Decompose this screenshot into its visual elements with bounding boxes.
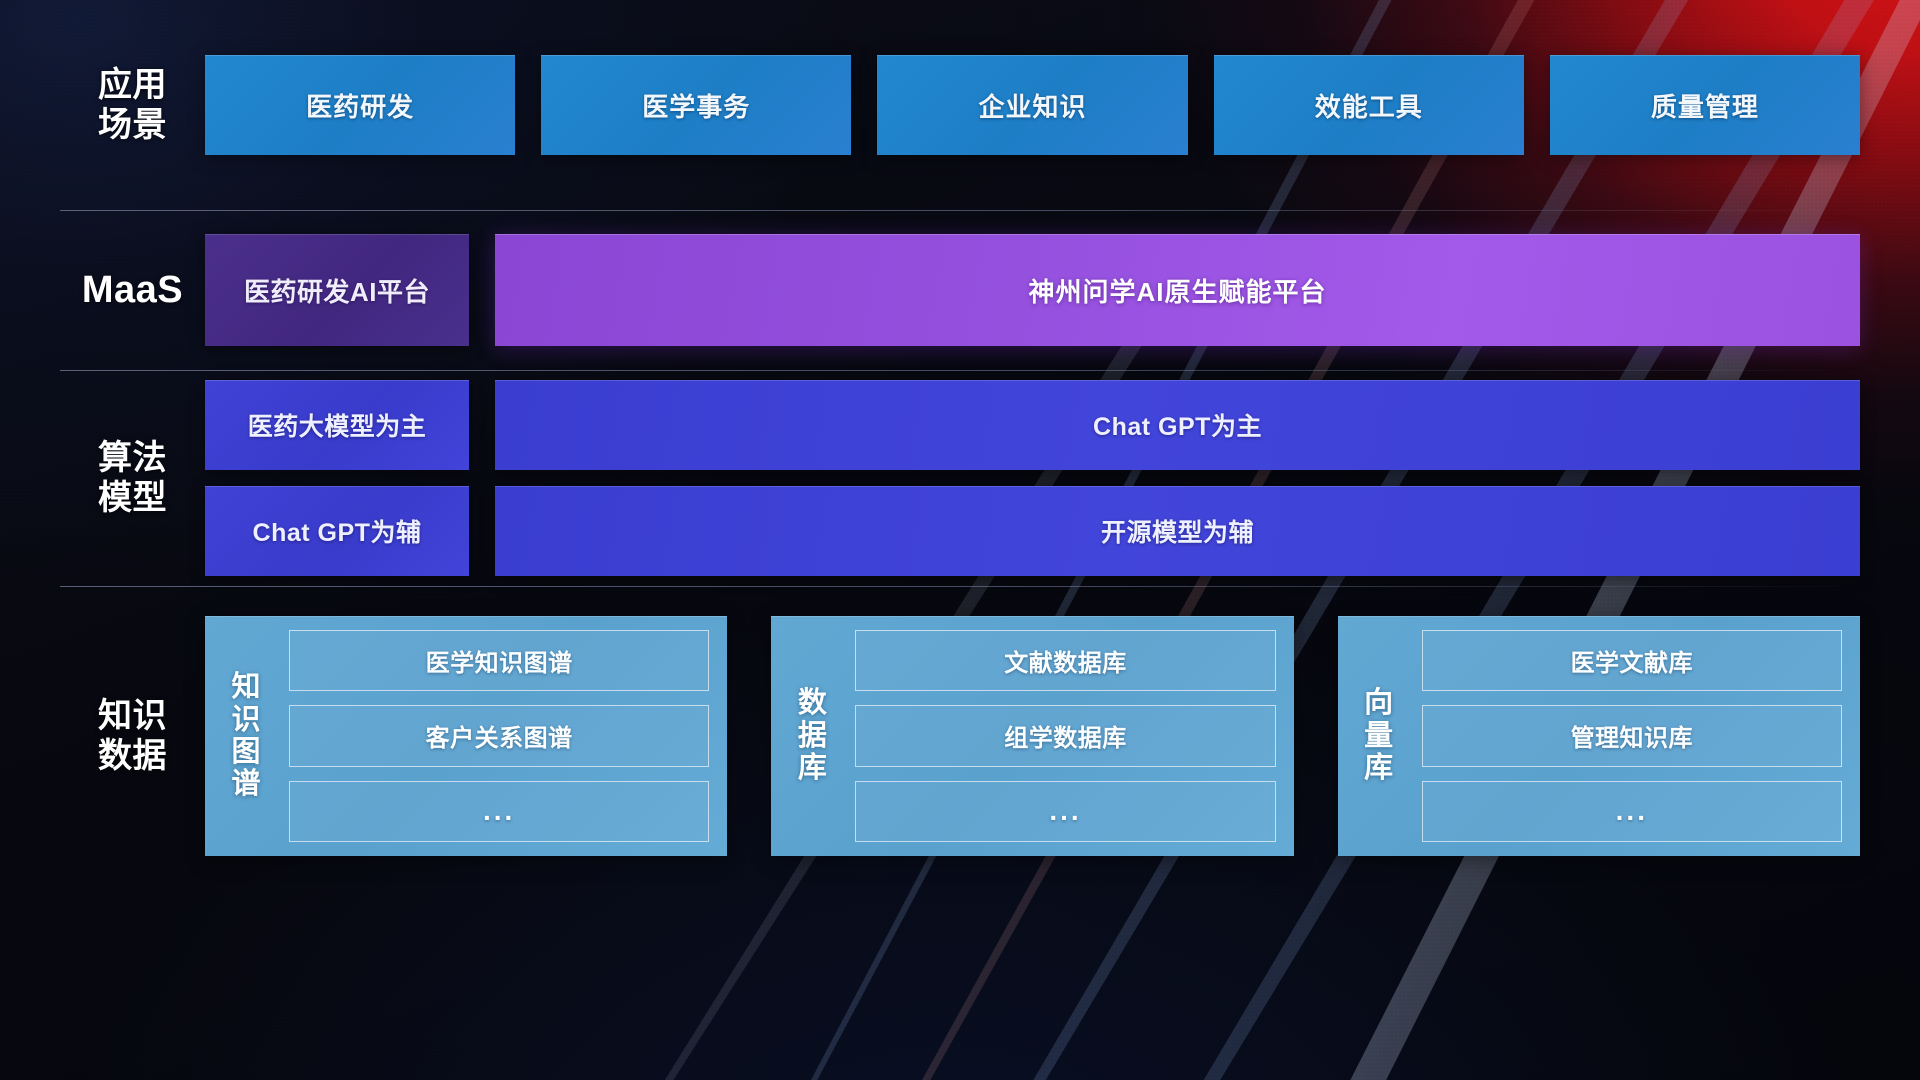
knowledge-items-knowledge-graph: 医学知识图谱 客户关系图谱 ... xyxy=(289,630,709,842)
knowledge-item-more-database[interactable]: ... xyxy=(855,781,1275,842)
knowledge-panel-label-knowledge-graph: 知识图谱 xyxy=(219,630,273,842)
row-label-knowledge-data: 知识 数据 xyxy=(60,696,205,776)
algo-card-pharma-large-model-primary[interactable]: 医药大模型为主 xyxy=(205,380,469,470)
knowledge-panel-database[interactable]: 数据库 文献数据库 组学数据库 ... xyxy=(771,616,1293,856)
app-card-medical-affairs[interactable]: 医学事务 xyxy=(541,55,851,155)
row-label-algorithm-models: 算法 模型 xyxy=(60,438,205,518)
knowledge-item-more-vector-store[interactable]: ... xyxy=(1422,781,1842,842)
algo-card-chatgpt-secondary[interactable]: Chat GPT为辅 xyxy=(205,486,469,576)
knowledge-item-omics-database[interactable]: 组学数据库 xyxy=(855,705,1275,766)
app-card-enterprise-knowledge[interactable]: 企业知识 xyxy=(877,55,1187,155)
maas-card-shenzhou-ai-platform[interactable]: 神州问学AI原生赋能平台 xyxy=(495,234,1860,346)
algo-card-opensource-secondary[interactable]: 开源模型为辅 xyxy=(495,486,1860,576)
algorithm-line-secondary: Chat GPT为辅 开源模型为辅 xyxy=(205,486,1860,576)
maas-card-pharma-ai-platform[interactable]: 医药研发AI平台 xyxy=(205,234,469,346)
row-label-maas: MaaS xyxy=(60,268,205,313)
knowledge-item-literature-database[interactable]: 文献数据库 xyxy=(855,630,1275,691)
knowledge-items-vector-store: 医学文献库 管理知识库 ... xyxy=(1422,630,1842,842)
application-scenario-cards: 医药研发 医学事务 企业知识 效能工具 质量管理 xyxy=(205,55,1860,155)
knowledge-item-more-knowledge-graph[interactable]: ... xyxy=(289,781,709,842)
app-card-pharma-rd[interactable]: 医药研发 xyxy=(205,55,515,155)
row-knowledge-data: 知识 数据 知识图谱 医学知识图谱 客户关系图谱 ... 数据库 文献数据库 组… xyxy=(60,586,1860,886)
knowledge-items-database: 文献数据库 组学数据库 ... xyxy=(855,630,1275,842)
row-application-scenarios: 应用 场景 医药研发 医学事务 企业知识 效能工具 质量管理 xyxy=(60,0,1860,210)
maas-platforms: 医药研发AI平台 神州问学AI原生赋能平台 xyxy=(205,234,1860,346)
knowledge-item-management-knowledge-store[interactable]: 管理知识库 xyxy=(1422,705,1842,766)
app-card-efficiency-tools[interactable]: 效能工具 xyxy=(1214,55,1524,155)
knowledge-panel-vector-store[interactable]: 向量库 医学文献库 管理知识库 ... xyxy=(1338,616,1860,856)
knowledge-data-panels: 知识图谱 医学知识图谱 客户关系图谱 ... 数据库 文献数据库 组学数据库 .… xyxy=(205,616,1860,856)
knowledge-item-customer-relation-graph[interactable]: 客户关系图谱 xyxy=(289,705,709,766)
knowledge-panel-knowledge-graph[interactable]: 知识图谱 医学知识图谱 客户关系图谱 ... xyxy=(205,616,727,856)
knowledge-panel-label-database: 数据库 xyxy=(785,630,839,842)
algorithm-line-primary: 医药大模型为主 Chat GPT为主 xyxy=(205,380,1860,470)
architecture-stack: 应用 场景 医药研发 医学事务 企业知识 效能工具 质量管理 MaaS 医药研发… xyxy=(0,0,1920,1080)
app-card-quality-management[interactable]: 质量管理 xyxy=(1550,55,1860,155)
algo-card-chatgpt-primary[interactable]: Chat GPT为主 xyxy=(495,380,1860,470)
row-label-application-scenarios: 应用 场景 xyxy=(60,65,205,145)
row-algorithm-models: 算法 模型 医药大模型为主 Chat GPT为主 Chat GPT为辅 开源模型… xyxy=(60,370,1860,586)
knowledge-item-medical-literature-store[interactable]: 医学文献库 xyxy=(1422,630,1842,691)
knowledge-item-medical-knowledge-graph[interactable]: 医学知识图谱 xyxy=(289,630,709,691)
knowledge-panel-label-vector-store: 向量库 xyxy=(1352,630,1406,842)
algorithm-model-cards: 医药大模型为主 Chat GPT为主 Chat GPT为辅 开源模型为辅 xyxy=(205,380,1860,576)
row-maas: MaaS 医药研发AI平台 神州问学AI原生赋能平台 xyxy=(60,210,1860,370)
